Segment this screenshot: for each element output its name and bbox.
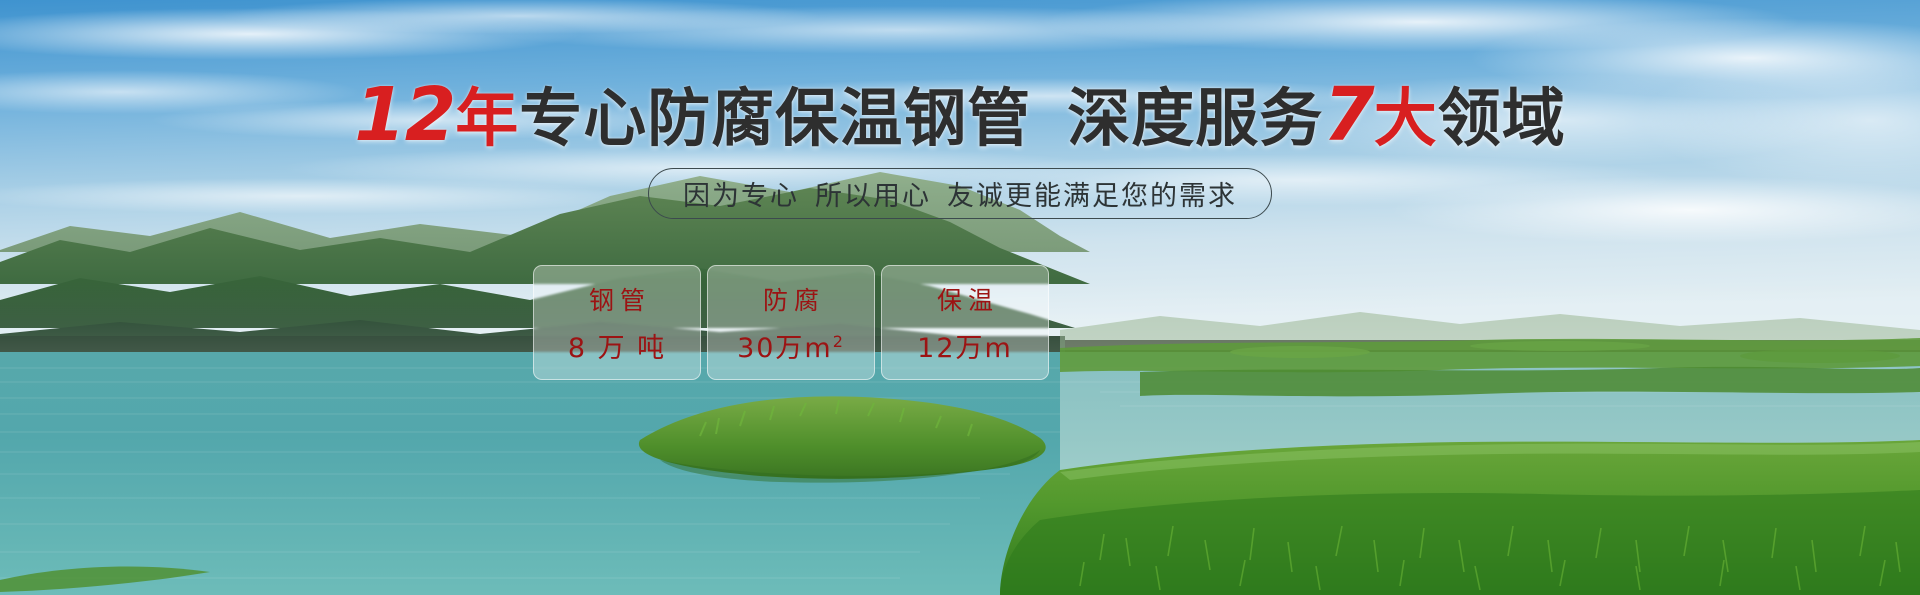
headline-fields-number: 7 [1323, 72, 1374, 158]
headline-fields-unit: 大 [1374, 82, 1438, 155]
stat-card-value: 12万m [917, 326, 1013, 365]
stat-card-insulation[interactable]: 保温 12万m [881, 265, 1049, 380]
headline-years-number: 12 [354, 72, 455, 158]
stat-card-value-text: 12万m [917, 333, 1013, 364]
subtitle-part-3: 友诚更能满足您的需求 [947, 174, 1237, 213]
headline-years-unit: 年 [455, 82, 519, 155]
stat-card-title: 钢管 [583, 281, 651, 317]
stat-card-value: 30万m2 [737, 326, 845, 365]
headline-fields-tail: 领域 [1438, 82, 1566, 155]
subtitle-part-2: 所以用心 [815, 174, 931, 213]
stat-card-title: 保温 [931, 281, 999, 317]
headline: 12年专心防腐保温钢管深度服务7大领域 [0, 78, 1920, 152]
headline-service-text: 深度服务 [1067, 82, 1323, 155]
marsh-strip-2 [1140, 367, 1920, 396]
stat-cards: 钢管 8 万 吨 防腐 30万m2 保温 12万m [533, 265, 1049, 380]
stat-card-value-sup: 2 [833, 332, 845, 351]
stat-card-anticorrosion[interactable]: 防腐 30万m2 [707, 265, 875, 380]
subtitle-pill: 因为专心 所以用心 友诚更能满足您的需求 [648, 168, 1272, 219]
stat-card-value: 8 万 吨 [568, 326, 666, 365]
promo-banner: 12年专心防腐保温钢管深度服务7大领域 因为专心 所以用心 友诚更能满足您的需求… [0, 0, 1920, 595]
stat-card-value-text: 30万m [737, 333, 833, 364]
stat-card-value-text: 8 万 吨 [568, 333, 666, 364]
subtitle-part-1: 因为专心 [683, 174, 799, 213]
stat-card-title: 防腐 [757, 281, 825, 317]
headline-main-text: 专心防腐保温钢管 [519, 82, 1031, 155]
stat-card-steel-pipe[interactable]: 钢管 8 万 吨 [533, 265, 701, 380]
